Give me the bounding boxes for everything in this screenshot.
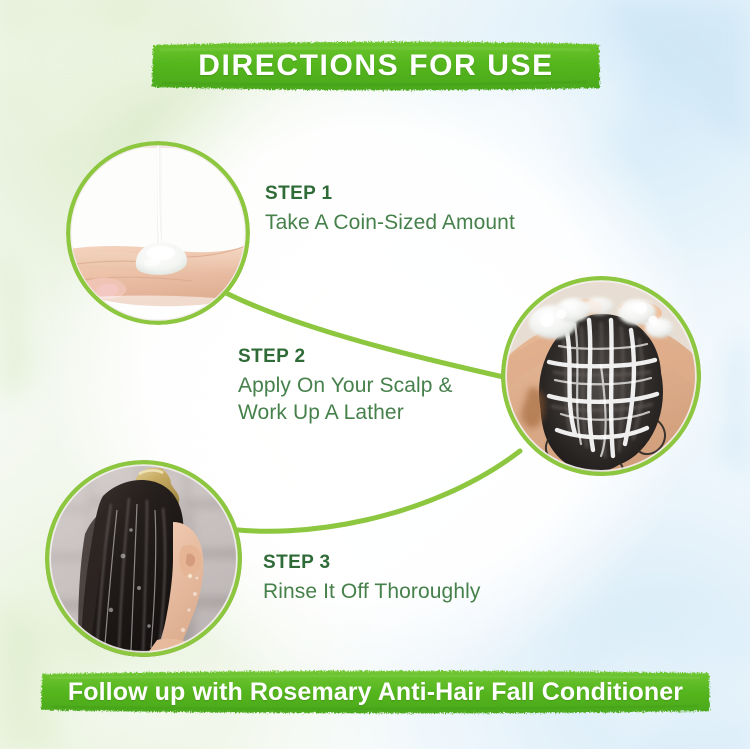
step-2-image — [501, 276, 701, 476]
rinsing-hair-shower-photo — [45, 460, 242, 657]
footer-cta-text: Follow up with Rosemary Anti-Hair Fall C… — [68, 680, 683, 705]
step-1-description: Take A Coin-Sized Amount — [265, 209, 515, 237]
page-title: DIRECTIONS FOR USE — [198, 51, 554, 81]
header-banner: DIRECTIONS FOR USE — [150, 38, 602, 94]
step-3-label: STEP 3 — [263, 551, 480, 575]
step-2-text: STEP 2 Apply On Your Scalp & Work Up A L… — [238, 345, 453, 427]
hand-with-shampoo-dollop-photo — [66, 141, 250, 325]
step-2-description: Apply On Your Scalp & Work Up A Lather — [238, 372, 453, 427]
step-1-image — [66, 141, 250, 325]
step-3-image — [45, 460, 242, 657]
step-2-label: STEP 2 — [238, 345, 453, 369]
step-1-label: STEP 1 — [265, 182, 515, 206]
step-1-text: STEP 1 Take A Coin-Sized Amount — [265, 182, 515, 236]
footer-banner: Follow up with Rosemary Anti-Hair Fall C… — [38, 668, 713, 716]
step-3-text: STEP 3 Rinse It Off Thoroughly — [263, 551, 480, 605]
lathering-scalp-photo — [501, 276, 701, 476]
connector-step2-to-step3 — [222, 451, 520, 531]
step-3-description: Rinse It Off Thoroughly — [263, 578, 480, 606]
